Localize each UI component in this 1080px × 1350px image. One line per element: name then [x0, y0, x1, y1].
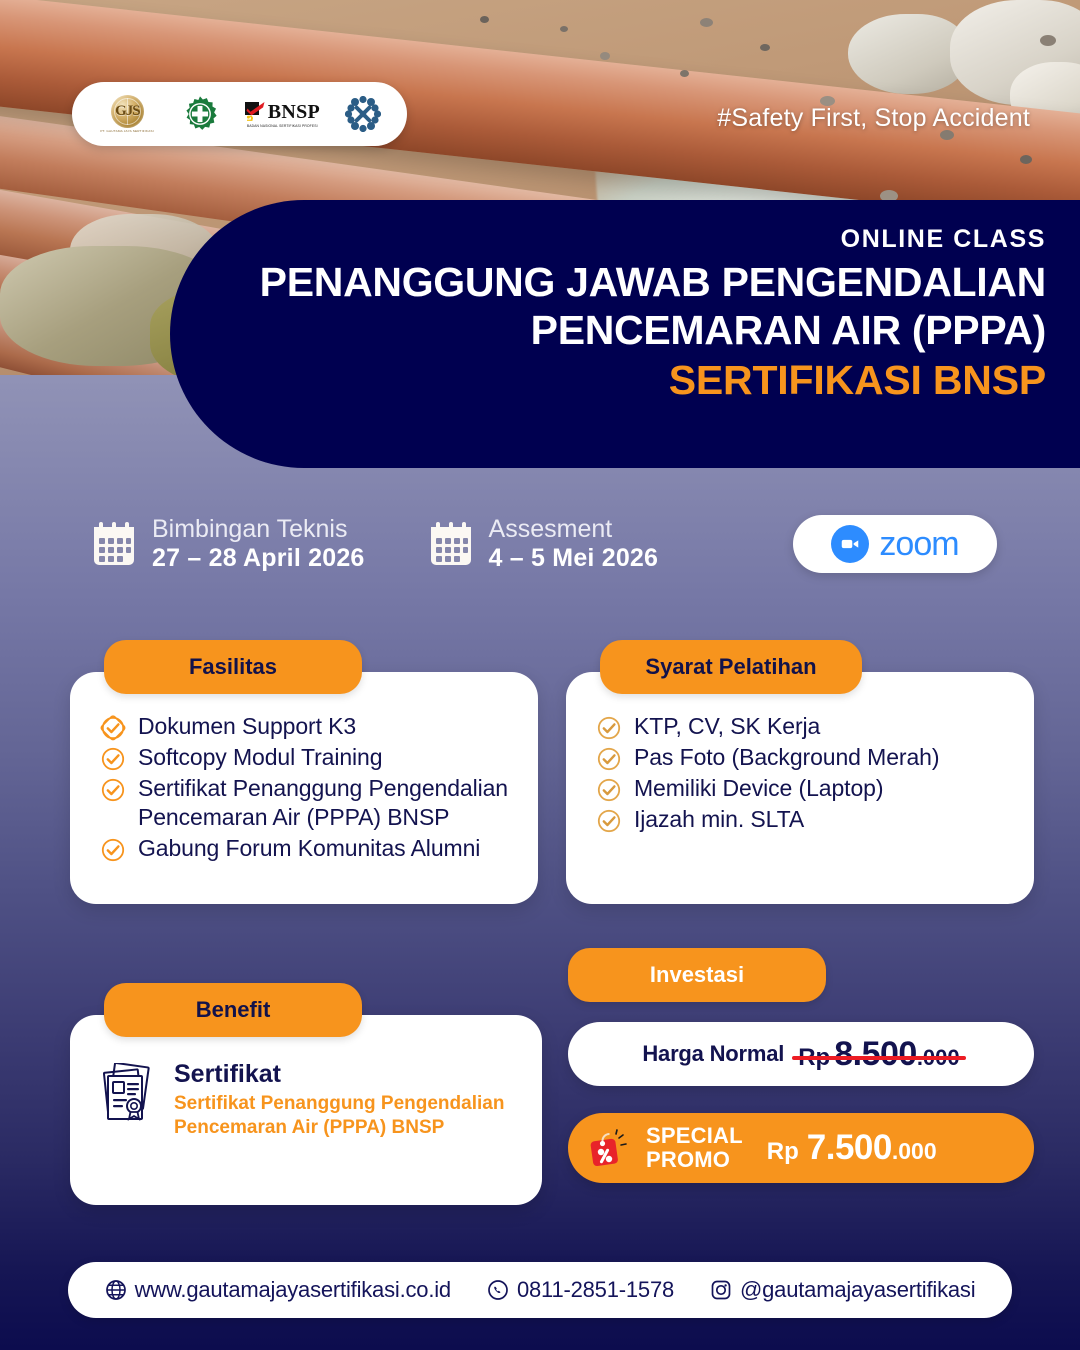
normal-price-row: Harga Normal Rp 8.500 .000	[568, 1022, 1034, 1086]
certification-logos-bar: GJS PT. GAUTAMA JAYA SERTIFIKASI	[72, 82, 407, 146]
pebble	[560, 26, 568, 32]
footer-instagram-text: @gautamajayasertifikasi	[740, 1277, 975, 1303]
pebble	[680, 70, 689, 77]
globe-monogram-icon: GJS	[111, 95, 144, 128]
footer-website-text: www.gautamajayasertifikasi.co.id	[135, 1277, 451, 1303]
check-badge-icon	[596, 715, 622, 741]
schedule-item-assesment: Assesment 4 – 5 Mei 2026	[429, 515, 659, 573]
benefit-title: Sertifikat	[174, 1059, 520, 1089]
page-title-line2: PENCEMARAN AIR (PPPA)	[230, 306, 1046, 354]
footer-website-link[interactable]: www.gautamajayasertifikasi.co.id	[105, 1277, 451, 1303]
promo-price-row: SPECIAL PROMO Rp 7.500 .000	[568, 1113, 1034, 1183]
check-badge-icon	[596, 808, 622, 834]
list-item: Pas Foto (Background Merah)	[596, 743, 1008, 772]
pebble	[760, 44, 770, 51]
bnsp-wordmark: BNSP	[268, 102, 320, 122]
list-item: Dokumen Support K3	[100, 712, 512, 741]
list-item-label: Memiliki Device (Laptop)	[634, 774, 883, 803]
zoom-platform-badge: zoom	[793, 515, 997, 573]
gjs-monogram: GJS	[115, 103, 140, 120]
strikethrough-line	[792, 1056, 965, 1060]
page-title-line1: PENANGGUNG JAWAB PENGENDALIAN	[230, 258, 1046, 306]
footer-instagram-link[interactable]: @gautamajayasertifikasi	[710, 1277, 975, 1303]
schedule-value: 27 – 28 April 2026	[152, 544, 365, 573]
promo-price-decimals: .000	[892, 1138, 937, 1165]
check-badge-icon	[596, 746, 622, 772]
phone-icon	[487, 1279, 509, 1301]
normal-price-amount: Rp 8.500 .000	[798, 1035, 959, 1074]
bnsp-subtitle: BADAN NASIONAL SERTIFIKASI PROFESI	[246, 124, 317, 128]
list-item: Softcopy Modul Training	[100, 743, 512, 772]
list-item-label: Dokumen Support K3	[138, 712, 356, 741]
eyebrow-online-class: ONLINE CLASS	[230, 226, 1046, 254]
list-item: Sertifikat Penanggung Pengendalian Pence…	[100, 774, 512, 832]
gjs-caption: PT. GAUTAMA JAYA SERTIFIKASI	[101, 129, 154, 133]
facilities-card: Dokumen Support K3 Softcopy Modul Traini…	[70, 672, 538, 904]
facilities-list: Dokumen Support K3 Softcopy Modul Traini…	[100, 712, 512, 863]
globe-icon	[105, 1279, 127, 1301]
pebble	[1040, 35, 1056, 46]
requirements-tab: Syarat Pelatihan	[600, 640, 862, 694]
promo-price-amount: Rp 7.500 .000	[767, 1128, 937, 1168]
list-item-label: Sertifikat Penanggung Pengendalian Pence…	[138, 774, 512, 832]
lattice-logo	[345, 96, 381, 132]
check-badge-icon	[596, 777, 622, 803]
schedule-label: Bimbingan Teknis	[152, 515, 365, 544]
page-title-line3-certification: SERTIFIKASI BNSP	[230, 356, 1046, 405]
zoom-wordmark: zoom	[879, 525, 958, 564]
list-item-label: Pas Foto (Background Merah)	[634, 743, 939, 772]
list-item: Memiliki Device (Laptop)	[596, 774, 1008, 803]
schedule-item-bimbingan-teknis: Bimbingan Teknis 27 – 28 April 2026	[92, 515, 365, 573]
investment-tab: Investasi	[568, 948, 826, 1002]
list-item-label: Gabung Forum Komunitas Alumni	[138, 834, 480, 863]
calendar-icon	[92, 521, 136, 567]
list-item: KTP, CV, SK Kerja	[596, 712, 1008, 741]
bnsp-mark-icon	[244, 101, 266, 123]
normal-price-label: Harga Normal	[642, 1041, 784, 1067]
pebble	[480, 16, 489, 23]
pebble	[1020, 155, 1032, 164]
zoom-camera-icon	[831, 525, 869, 563]
safety-hashtag: #Safety First, Stop Accident	[717, 104, 1030, 133]
facilities-tab: Fasilitas	[104, 640, 362, 694]
benefit-subtitle: Sertifikat Penanggung Pengendalian Pence…	[174, 1092, 520, 1140]
promo-label: SPECIAL PROMO	[646, 1124, 743, 1172]
gjs-logo: GJS PT. GAUTAMA JAYA SERTIFIKASI	[98, 95, 156, 133]
poster-root: #Safety First, Stop Accident GJS PT. GAU…	[0, 0, 1080, 1350]
check-badge-icon	[100, 715, 126, 741]
certificate-icon	[98, 1063, 156, 1125]
k3-gear-icon	[181, 95, 219, 133]
check-badge-icon	[100, 746, 126, 772]
footer-phone-link[interactable]: 0811-2851-1578	[487, 1277, 674, 1303]
pebble	[700, 18, 713, 27]
check-badge-icon	[100, 777, 126, 803]
promo-price-value: 7.500	[807, 1128, 892, 1168]
list-item-label: KTP, CV, SK Kerja	[634, 712, 820, 741]
bnsp-logo: BNSP BADAN NASIONAL SERTIFIKASI PROFESI	[244, 101, 320, 128]
footer-phone-text: 0811-2851-1578	[517, 1277, 674, 1303]
check-badge-icon	[100, 837, 126, 863]
list-item-label: Softcopy Modul Training	[138, 743, 382, 772]
discount-tag-icon	[588, 1126, 632, 1170]
requirements-card: KTP, CV, SK Kerja Pas Foto (Background M…	[566, 672, 1034, 904]
contact-footer: www.gautamajayasertifikasi.co.id 0811-28…	[68, 1262, 1012, 1318]
benefit-card: Sertifikat Sertifikat Penanggung Pengend…	[70, 1015, 542, 1205]
instagram-icon	[710, 1279, 732, 1301]
promo-label-line1: SPECIAL	[646, 1123, 743, 1148]
benefit-tab: Benefit	[104, 983, 362, 1037]
list-item: Ijazah min. SLTA	[596, 805, 1008, 834]
promo-label-line2: PROMO	[646, 1147, 730, 1172]
list-item: Gabung Forum Komunitas Alumni	[100, 834, 512, 863]
normal-price-value: 8.500	[834, 1035, 917, 1074]
currency-symbol: Rp	[767, 1138, 799, 1166]
title-block: ONLINE CLASS PENANGGUNG JAWAB PENGENDALI…	[170, 200, 1080, 468]
schedule-row: Bimbingan Teknis 27 – 28 April 2026	[92, 502, 792, 586]
calendar-icon	[429, 521, 473, 567]
schedule-label: Assesment	[489, 515, 659, 544]
list-item-label: Ijazah min. SLTA	[634, 805, 804, 834]
pebble	[600, 52, 610, 60]
requirements-list: KTP, CV, SK Kerja Pas Foto (Background M…	[596, 712, 1008, 834]
schedule-value: 4 – 5 Mei 2026	[489, 544, 659, 573]
